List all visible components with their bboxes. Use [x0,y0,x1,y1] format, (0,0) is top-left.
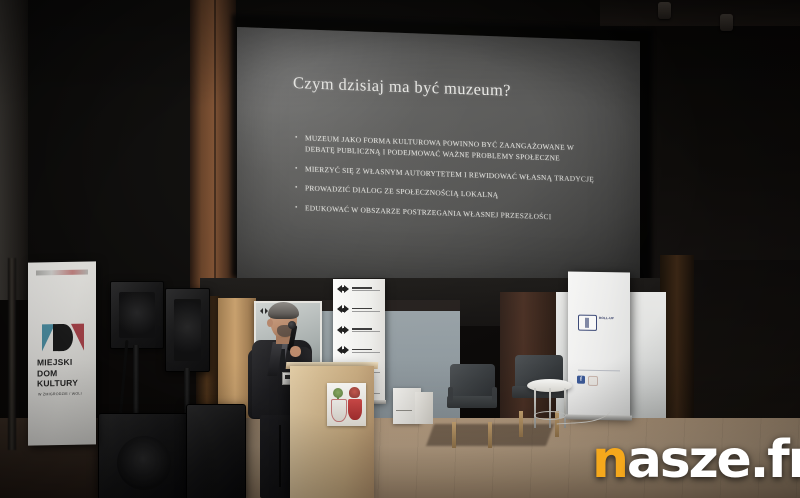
watermark-n: n [592,439,627,482]
chair-leg [452,422,456,448]
banner-right: ROLL-UP f [568,271,630,418]
ceiling-spotlight [720,14,733,31]
subwoofer [186,404,246,498]
logo-dot [342,287,346,291]
double-arrow-icon [337,326,349,335]
watermark-fm: fm [767,439,800,482]
banner-logo-row [333,279,385,300]
chair-leg [488,422,492,448]
slide-bullet: MUZEUM JAKO FORMA KULTUROWA POWINNO BYĆ … [295,132,595,166]
speaker-grill [174,299,201,361]
person-leg-split [279,425,281,487]
crest-emblem-right [349,387,360,398]
subwoofer [98,413,190,498]
crest-shield-left [331,399,347,422]
facebook-icon: f [577,376,585,384]
logo-circle-left [53,324,64,351]
banner-support-pole [8,258,16,450]
double-arrow-icon [337,305,349,314]
subwoofer-cone [117,436,171,490]
pa-speaker [110,281,164,349]
microphone-head [288,321,296,329]
institution-logo-icon [578,315,597,331]
paper-line [396,410,412,411]
banner-logo-row [333,300,385,321]
chair-backrest [450,364,495,400]
slide-bullet: PROWADZIĆ DIALOG ZE SPOŁECZNOŚCIĄ LOKALN… [295,182,595,204]
photo-canvas: Czym dzisiaj ma być muzeum? MUZEUM JAKO … [0,0,800,498]
banner-text-lines [352,349,385,353]
banner-mdk-line3: KULTURY [37,378,96,390]
banner-mdk-text: MIEJSKI DOM KULTURY [37,356,96,389]
double-arrow-icon [337,285,349,294]
banner-text-lines [352,308,385,312]
watermark-dot: . [750,439,768,482]
banner-top-stripe [36,270,88,276]
table-leg [534,388,536,428]
left-dark-wall [28,0,194,300]
projection-screen: Czym dzisiaj ma być muzeum? MUZEUM JAKO … [237,27,640,293]
slide-title: Czym dzisiaj ma być muzeum? [293,73,511,101]
person-hair [268,302,299,319]
crest-shield-right [348,399,362,420]
slide-bullet: EDUKOWAĆ W OBSZARZE POSTRZEGANIA WŁASNEJ… [295,202,595,224]
logo-dot [342,308,346,312]
banner-text-lines [352,287,385,291]
ceiling-beam [600,0,800,26]
logo-dot [342,349,346,353]
banner-mdk-subtitle: W ŻMIGRODZIE / WOLI [38,391,96,396]
wooden-column-edge [214,0,216,300]
slide-bullet: MIERZYĆ SIĘ Z WŁASNYM AUTORYTETEM I REWI… [295,163,595,185]
coat-of-arms-crest [327,383,366,426]
banner-logo-row [333,341,385,362]
banner-divider [578,370,620,372]
chair-leg [519,411,523,437]
armchair [450,364,495,422]
banner-text-lines [352,328,385,332]
person-ear [267,319,273,327]
nasze-fm-watermark: nasze.fm [592,439,800,482]
table-leg [549,388,551,428]
wooden-column-left [190,0,236,300]
instagram-icon [588,376,598,386]
banner-mdk: MIEJSKI DOM KULTURY W ŻMIGRODZIE / WOLI [28,261,96,445]
ceiling-spotlight [658,2,671,19]
chair-armrest [492,387,497,401]
slide-bullet-list: MUZEUM JAKO FORMA KULTUROWA POWINNO BYĆ … [295,132,595,232]
logo-triangle-red [71,324,84,351]
speaker-grill [119,292,155,338]
speaker-cable [119,340,129,420]
banner-logo-row [333,320,385,341]
chair-armrest [448,387,453,401]
mdk-logo-icon [42,324,84,352]
chair-seat [447,396,497,408]
watermark-asze: asze [627,439,750,482]
double-arrow-icon [337,346,349,355]
banner-right-title: ROLL-UP [599,316,625,321]
left-wall-edge [0,0,30,300]
person-hand [290,346,301,357]
pa-speaker [165,288,210,372]
paper-stack [415,392,433,424]
podium [290,366,374,498]
logo-dot [342,328,346,332]
